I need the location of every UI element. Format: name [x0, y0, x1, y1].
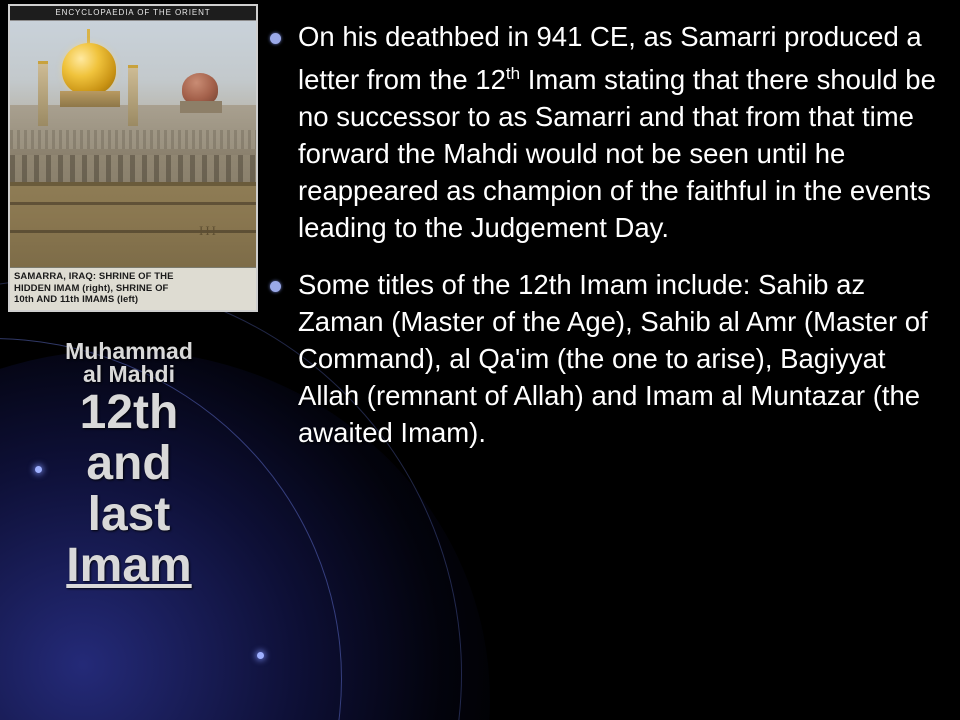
title-line-3: 12th: [0, 389, 258, 438]
bullet-2-text: Some titles of the 12th Imam include: Sa…: [298, 269, 928, 448]
wall-line-upper: [10, 202, 256, 205]
bullet-marker-icon: [270, 33, 281, 44]
golden-dome-icon: [62, 43, 116, 95]
title-line-6: Imam: [0, 542, 258, 591]
title-line-5: last: [0, 491, 258, 540]
slide-title: Muhammad al Mahdi 12th and last Imam: [0, 340, 258, 591]
picture-caption-line-3: 10th AND 11th IMAMS (left): [14, 294, 252, 306]
shrine-photo: III: [10, 21, 256, 268]
bullet-marker-icon: [270, 281, 281, 292]
picture-caption-line-2: HIDDEN IMAM (right), SHRINE OF: [14, 283, 252, 295]
title-line-1: Muhammad: [0, 340, 258, 363]
picture-caption-line-1: SAMARRA, IRAQ: SHRINE OF THE: [14, 271, 252, 283]
picture-source-banner: ENCYCLOPAEDIA OF THE ORIENT: [10, 6, 256, 21]
bullet-item-2: Some titles of the 12th Imam include: Sa…: [262, 266, 950, 451]
golden-dome-base: [60, 91, 120, 107]
picture-block: ENCYCLOPAEDIA OF THE ORIENT III SAMARRA,…: [8, 4, 258, 312]
minaret-right-icon: [128, 65, 138, 126]
title-line-4: and: [0, 440, 258, 489]
photo-foreground-wall: [10, 182, 256, 267]
bullet-list: On his deathbed in 941 CE, as Samarri pr…: [262, 18, 950, 451]
bullet-1-ordinal-suffix: th: [506, 64, 520, 83]
title-line-2: al Mahdi: [0, 363, 258, 386]
picture-caption: SAMARRA, IRAQ: SHRINE OF THE HIDDEN IMAM…: [10, 268, 256, 310]
minaret-left-icon: [38, 61, 48, 126]
bullet-item-1: On his deathbed in 941 CE, as Samarri pr…: [262, 18, 950, 246]
wall-line-lower: [10, 230, 256, 233]
second-dome-base: [180, 101, 222, 113]
slide: ENCYCLOPAEDIA OF THE ORIENT III SAMARRA,…: [0, 0, 960, 720]
slide-body: On his deathbed in 941 CE, as Samarri pr…: [262, 18, 950, 471]
wall-marks-text: III: [199, 223, 218, 239]
decorative-dot-bottom: [257, 652, 264, 659]
